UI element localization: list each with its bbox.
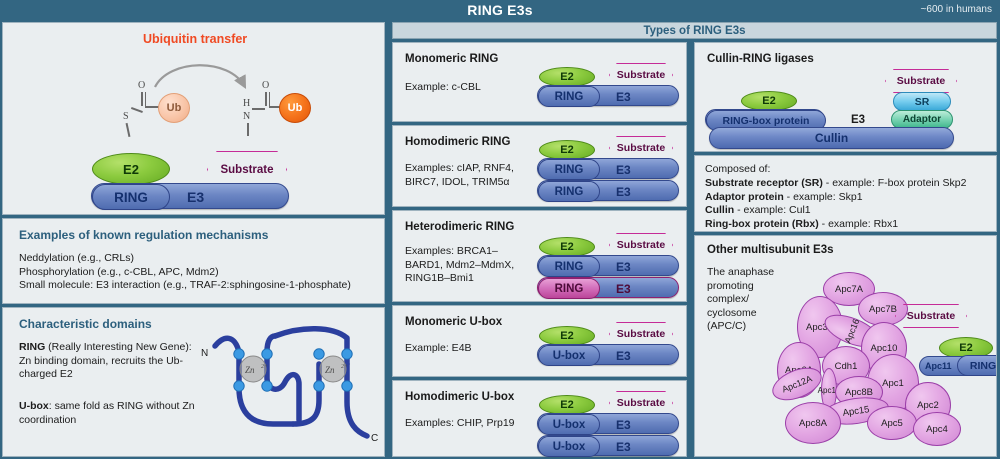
section-monomeric-ubox: Monomeric U-box Example: E4B E2 Substrat… xyxy=(392,305,687,377)
e3-label: E3 xyxy=(616,418,631,432)
substrate-shape: Substrate xyxy=(609,136,673,160)
n-terminus-label: N xyxy=(201,348,208,359)
ubox-domain-lobe: U-box xyxy=(538,414,600,435)
c-s-bond xyxy=(131,107,143,113)
apc-subunit-label: Apc10 xyxy=(871,343,898,354)
e3-label: E3 xyxy=(616,349,631,363)
ring-domain-lobe: RING xyxy=(957,355,997,376)
figure-body: Ubiquitin transfer O S Ub O xyxy=(0,22,1000,459)
apc-subunit: Apc4 xyxy=(913,412,961,446)
e3-bar: U-box E3 xyxy=(537,344,679,365)
composition-item: Adaptor protein - example: Skp1 xyxy=(705,191,990,205)
e3-bar: RING E3 xyxy=(537,85,679,106)
crl-title: Cullin-RING ligases xyxy=(707,53,814,65)
c-o-double-bond-left-2 xyxy=(145,92,147,106)
apc-subunit-label: Apc7B xyxy=(869,304,897,315)
ubox-domain-label: U-box xyxy=(553,419,586,431)
svg-text:2+: 2+ xyxy=(261,364,268,370)
substrate-receptor: SR xyxy=(893,92,951,111)
ubox-domain-label: U-box xyxy=(553,441,586,453)
composition-term: Substrate receptor (SR) xyxy=(705,177,823,189)
zinc-label-2: Zn xyxy=(325,365,335,375)
e3-label-wrap: E3 xyxy=(616,436,631,457)
zinc-label-1: Zn xyxy=(245,365,255,375)
c-terminus-label: C xyxy=(371,433,378,444)
ring-description: (Really Interesting New Gene): Zn bindin… xyxy=(19,341,192,380)
section-title: Homodimeric RING xyxy=(405,136,510,148)
composition-list: Substrate receptor (SR) - example: F-box… xyxy=(705,177,990,231)
sulfur-label: S xyxy=(123,111,129,122)
e2-enzyme: E2 xyxy=(539,67,595,87)
regulation-item: Phosphorylation (e.g., c-CBL, APC, Mdm2) xyxy=(19,266,376,280)
e3-label: E3 xyxy=(851,114,865,126)
composition-example: - example: Skp1 xyxy=(784,191,863,203)
apc-subunit-label: Cdh1 xyxy=(835,361,858,372)
e3-label: E3 xyxy=(616,260,631,274)
panel-ubiquitin-transfer: Ubiquitin transfer O S Ub O xyxy=(2,22,385,215)
e3-bar: RING E3 xyxy=(537,180,679,201)
apc-subunit-label: Apc12A xyxy=(781,373,814,394)
oxygen-label-left: O xyxy=(138,80,145,91)
e3-bar: U-box E3 xyxy=(537,413,679,434)
cullin-label: Cullin xyxy=(815,131,848,145)
e3-label: E3 xyxy=(616,440,631,454)
page-header: RING E3s ~600 in humans xyxy=(0,0,1000,22)
substrate-shape: Substrate xyxy=(885,69,957,93)
c-o-double-bond-right xyxy=(265,92,267,106)
e2-enzyme: E2 xyxy=(92,153,170,185)
s-e2-bond xyxy=(126,123,130,137)
ring-domain-label: RING xyxy=(555,164,584,176)
e3-label-wrap: E3 xyxy=(616,414,631,435)
section-homodimeric-ring: Homodimeric RING Examples: cIAP, RNF4, B… xyxy=(392,125,687,207)
apc-subunit: Apc8A xyxy=(785,402,841,444)
section-examples: Example: E4B xyxy=(405,342,525,356)
e2-enzyme: E2 xyxy=(539,395,595,415)
section-title: Monomeric RING xyxy=(405,53,498,65)
ring-domain-lobe: RING xyxy=(538,181,600,202)
e3-bar: RING E3 xyxy=(537,255,679,276)
composition-example: - example: Cul1 xyxy=(734,204,810,216)
ubox-term: U-box xyxy=(19,400,49,412)
panel-regulation-mechanisms: Examples of known regulation mechanisms … xyxy=(2,218,385,304)
section-examples: Examples: CHIP, Prp19 xyxy=(405,417,533,431)
n-c-bond xyxy=(252,108,265,110)
composition-example: - example: Rbx1 xyxy=(819,218,898,230)
e3-bar: U-box E3 xyxy=(537,435,679,456)
e3-label: E3 xyxy=(616,185,631,199)
ring-domain-lobe: RING xyxy=(538,278,600,299)
panel-characteristic-domains: Characteristic domains RING (Really Inte… xyxy=(2,307,385,457)
substrate-shape: Substrate xyxy=(609,63,673,87)
svg-text:2+: 2+ xyxy=(341,364,348,370)
composition-term: Cullin xyxy=(705,204,734,216)
apc-subunit-label: Apc2 xyxy=(917,400,939,411)
e3-label: E3 xyxy=(616,90,631,104)
apc-subunit-label: Apc1 xyxy=(882,378,904,389)
e2-enzyme: E2 xyxy=(741,91,797,111)
ring-domain-lobe: RING xyxy=(92,184,170,210)
apc-subunit-label: Apc8A xyxy=(799,418,827,429)
ring-domain-lobe: RING xyxy=(538,159,600,180)
ring-term: RING xyxy=(19,341,45,353)
e3-label-wrap: E3 xyxy=(616,278,631,299)
e3-bar-pink: RING E3 xyxy=(537,277,679,298)
section-title: Monomeric U-box xyxy=(405,316,502,328)
e3-bar: RING E3 xyxy=(537,158,679,179)
ring-fold-diagram: Zn Zn 2+ 2+ N C xyxy=(201,324,381,446)
ring-box-protein-label: RING-box protein xyxy=(723,115,810,127)
c-o-double-bond-right-2 xyxy=(269,92,271,106)
apc-subunit-label: Apc4 xyxy=(926,424,948,435)
section-heterodimeric-ring: Heterodimeric RING Examples: BRCA1–BARD1… xyxy=(392,210,687,302)
ubox-domain-lobe: U-box xyxy=(538,345,600,366)
apc-subunit-label: Apc15 xyxy=(842,404,870,419)
ub-donor: Ub xyxy=(158,93,190,123)
section-examples: Examples: cIAP, RNF4, BIRC7, IDOL, TRIM5… xyxy=(405,162,530,189)
ring-domain-label: RING xyxy=(114,190,148,205)
e3-label: E3 xyxy=(187,189,204,205)
composition-item: Cullin - example: Cul1 xyxy=(705,204,990,218)
e3-bar: RING E3 xyxy=(91,183,289,209)
left-column: Ubiquitin transfer O S Ub O xyxy=(2,22,385,459)
composed-of-label: Composed of: xyxy=(705,163,770,177)
e3-label: E3 xyxy=(616,282,631,296)
composition-term: Ring-box protein (Rbx) xyxy=(705,218,819,230)
ring-domain-label: RING xyxy=(970,360,996,372)
section-title: Homodimeric U-box xyxy=(405,391,514,403)
e2-enzyme: E2 xyxy=(539,237,595,257)
n-substrate-bond xyxy=(247,123,249,136)
panel-other-multisubunit-e3s: Other multisubunit E3s The anaphase prom… xyxy=(694,235,997,457)
ring-domain-lobe: RING xyxy=(538,256,600,277)
substrate-shape: Substrate xyxy=(609,322,673,346)
ring-domain-label: RING xyxy=(555,186,584,198)
cullin-bar: Cullin xyxy=(709,127,954,149)
hydrogen-label: H xyxy=(243,98,250,109)
apc-subunit-label: Apc16 xyxy=(843,317,862,344)
composition-item: Substrate receptor (SR) - example: F-box… xyxy=(705,177,990,191)
ring-definition: RING (Really Interesting New Gene): Zn b… xyxy=(19,341,199,382)
e3-label-wrap: E3 xyxy=(616,345,631,366)
c-ub-bond-left xyxy=(145,106,159,108)
e3-label-wrap: E3 xyxy=(187,184,204,210)
ring-domain-label: RING xyxy=(555,91,584,103)
apc-subunit: Apc5 xyxy=(867,406,917,440)
panel-crl-composition: Composed of: Substrate receptor (SR) - e… xyxy=(694,155,997,232)
oxygen-label-right: O xyxy=(262,80,269,91)
section-monomeric-ring: Monomeric RING Example: c-CBL E2 Substra… xyxy=(392,42,687,122)
domains-title: Characteristic domains xyxy=(19,317,152,331)
regulation-item: Small molecule: E3 interaction (e.g., TR… xyxy=(19,279,376,293)
e3-label-wrap: E3 xyxy=(616,181,631,202)
header-count-note: ~600 in humans xyxy=(921,4,992,15)
section-homodimeric-ubox: Homodimeric U-box Examples: CHIP, Prp19 … xyxy=(392,380,687,457)
section-examples: Example: c-CBL xyxy=(405,81,525,95)
apc11-label: Apc11 xyxy=(925,361,952,371)
regulation-list: Neddylation (e.g., CRLs) Phosphorylation… xyxy=(19,252,376,293)
e3-label-wrap: E3 xyxy=(616,86,631,107)
ubox-domain-lobe: U-box xyxy=(538,436,600,457)
apc-subunit-label: Apc8B xyxy=(845,387,873,398)
e2-enzyme: E2 xyxy=(539,326,595,346)
c-o-double-bond-left xyxy=(141,92,143,106)
regulation-title: Examples of known regulation mechanisms xyxy=(19,228,268,242)
panel-cullin-ring-ligases: Cullin-RING ligases Substrate SR Adaptor… xyxy=(694,42,997,152)
e3-label: E3 xyxy=(616,163,631,177)
ubiquitin-transfer-title: Ubiquitin transfer xyxy=(143,32,247,46)
middle-column: Types of RING E3s Monomeric RING Example… xyxy=(392,22,687,459)
substrate-shape: Substrate xyxy=(895,304,967,328)
ring-domain-lobe: RING xyxy=(538,86,600,107)
ring-domain-label: RING xyxy=(555,261,584,273)
page-title: RING E3s xyxy=(0,2,1000,18)
e3-label-wrap: E3 xyxy=(616,159,631,180)
e3-label-wrap: E3 xyxy=(616,256,631,277)
composition-term: Adaptor protein xyxy=(705,191,784,203)
regulation-item: Neddylation (e.g., CRLs) xyxy=(19,252,376,266)
substrate-shape: Substrate xyxy=(609,233,673,257)
apc-subunit-label: Apc5 xyxy=(881,418,903,429)
right-column: Cullin-RING ligases Substrate SR Adaptor… xyxy=(694,22,997,459)
ubox-domain-label: U-box xyxy=(553,350,586,362)
substrate-shape: Substrate xyxy=(609,391,673,415)
ub-acceptor: Ub xyxy=(279,93,311,123)
composition-example: - example: F-box protein Skp2 xyxy=(823,177,967,189)
apc-subunit-label: Apc7A xyxy=(835,284,863,295)
composition-item: Ring-box protein (Rbx) - example: Rbx1 xyxy=(705,218,990,232)
e2-enzyme: E2 xyxy=(539,140,595,160)
ubox-definition: U-box: same fold as RING without Zn coor… xyxy=(19,400,199,427)
ring-domain-label: RING xyxy=(555,283,584,295)
section-title: Heterodimeric RING xyxy=(405,221,514,233)
nitrogen-label: N xyxy=(243,111,250,122)
section-examples: Examples: BRCA1–BARD1, Mdm2–MdmX, RING1B… xyxy=(405,245,517,286)
